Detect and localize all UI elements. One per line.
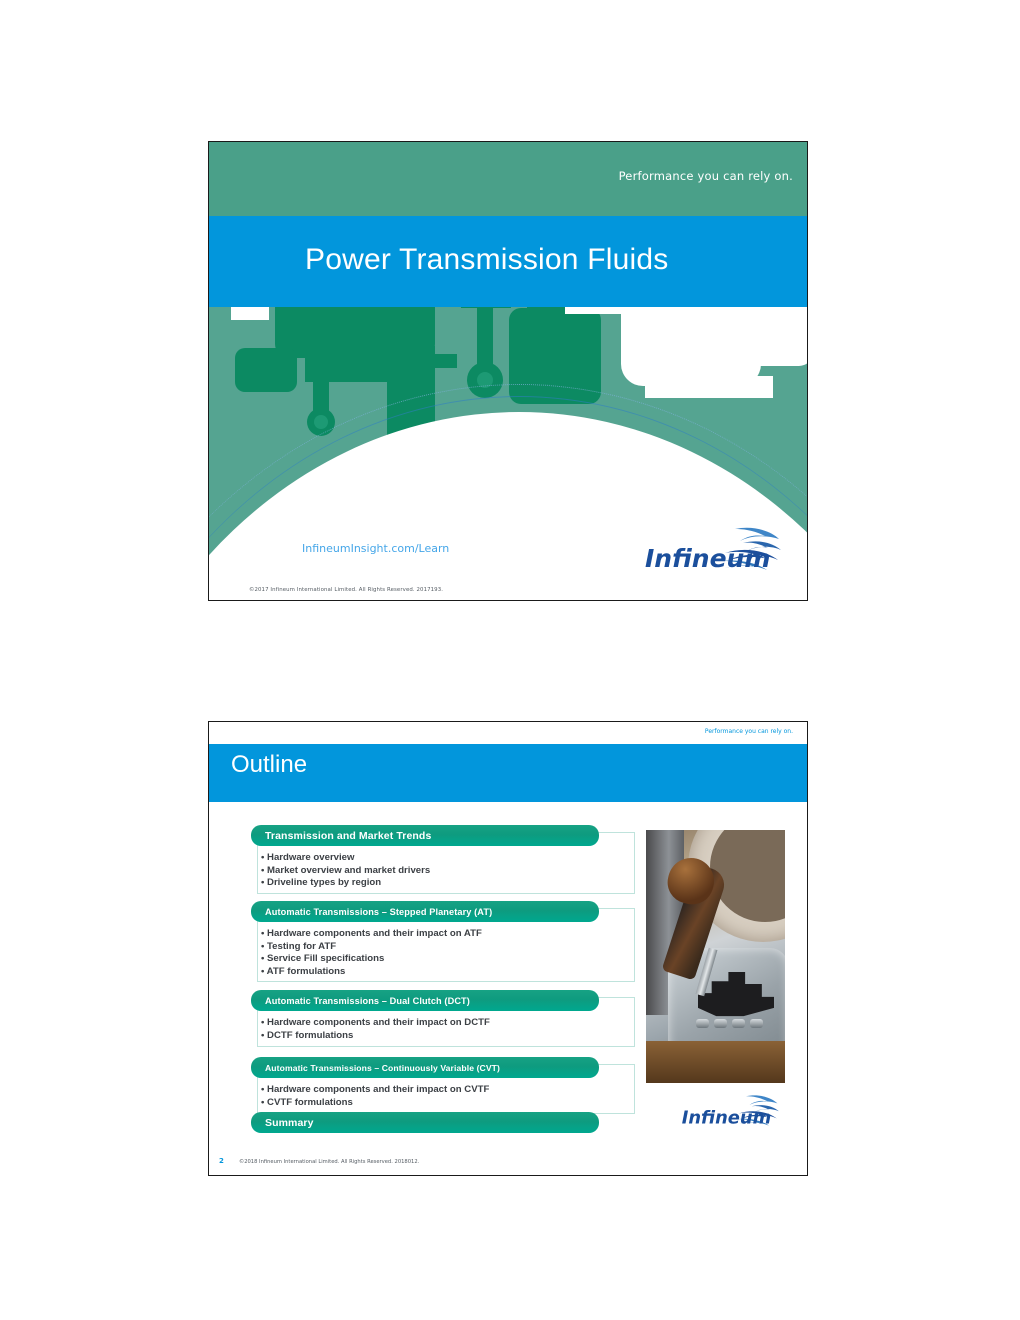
engine-ring-hole-left — [314, 415, 328, 429]
infineum-logo: Infineum — [639, 523, 789, 584]
bullet-item: • Market overview and market drivers — [261, 865, 430, 878]
copyright-notice: ©2018 Infineum International Limited. Al… — [239, 1159, 419, 1165]
page-title: Power Transmission Fluids — [305, 243, 668, 277]
infineum-logo: Infineum — [677, 1092, 785, 1137]
bullet-item: • DCTF formulations — [261, 1030, 490, 1043]
console-button-shape — [732, 1019, 745, 1028]
engine-foot-right-white — [645, 376, 773, 398]
engine-pulley-left — [235, 348, 297, 392]
bullet-item: • Hardware components and their impact o… — [261, 1084, 489, 1097]
console-button-shape — [750, 1019, 763, 1028]
outline-section-bullets-2: • Hardware components and their impact o… — [261, 1017, 490, 1042]
outline-section-heading-1[interactable]: Automatic Transmissions – Stepped Planet… — [251, 901, 599, 922]
outline-slide: Performance you can rely on. Outline Tra… — [208, 721, 808, 1176]
outline-section-heading-3[interactable]: Automatic Transmissions – Continuously V… — [251, 1057, 599, 1078]
brand-tagline: Performance you can rely on. — [705, 728, 793, 735]
piston-rod-center — [477, 306, 493, 368]
infineum-logo-text: Infineum — [645, 544, 770, 573]
outline-section-bullets-3: • Hardware components and their impact o… — [261, 1084, 489, 1109]
infineum-insight-link[interactable]: InfineumInsight.com/Learn — [302, 542, 449, 555]
outline-section-bullets-0: • Hardware overview • Market overview an… — [261, 852, 430, 890]
outline-content: Transmission and Market Trends • Hardwar… — [209, 802, 807, 1175]
title-slide: Performance you can rely on. — [208, 141, 808, 601]
bullet-item: • Service Fill specifications — [261, 953, 482, 966]
wood-trim-shape — [646, 1041, 785, 1083]
copyright-notice: ©2017 Infineum International Limited. Al… — [249, 587, 443, 593]
bullet-item: • ATF formulations — [261, 966, 482, 979]
page-number: 2 — [219, 1157, 224, 1165]
console-button-shape — [696, 1019, 709, 1028]
outline-section-heading-0[interactable]: Transmission and Market Trends — [251, 825, 599, 846]
outline-section-bullets-1: • Hardware components and their impact o… — [261, 928, 482, 978]
outline-section-heading-4[interactable]: Summary — [251, 1112, 599, 1133]
page-title: Outline — [231, 751, 307, 779]
infineum-logo-text: Infineum — [682, 1107, 772, 1128]
bullet-item: • Hardware overview — [261, 852, 430, 865]
bullet-item: • Hardware components and their impact o… — [261, 1017, 490, 1030]
outline-section-heading-2[interactable]: Automatic Transmissions – Dual Clutch (D… — [251, 990, 599, 1011]
bullet-item: • Driveline types by region — [261, 877, 430, 890]
bullet-item: • Hardware components and their impact o… — [261, 928, 482, 941]
gear-shifter-photo — [646, 830, 785, 1083]
bullet-item: • Testing for ATF — [261, 941, 482, 954]
bullet-item: • CVTF formulations — [261, 1097, 489, 1110]
console-button-shape — [714, 1019, 727, 1028]
brand-tagline: Performance you can rely on. — [619, 169, 793, 183]
